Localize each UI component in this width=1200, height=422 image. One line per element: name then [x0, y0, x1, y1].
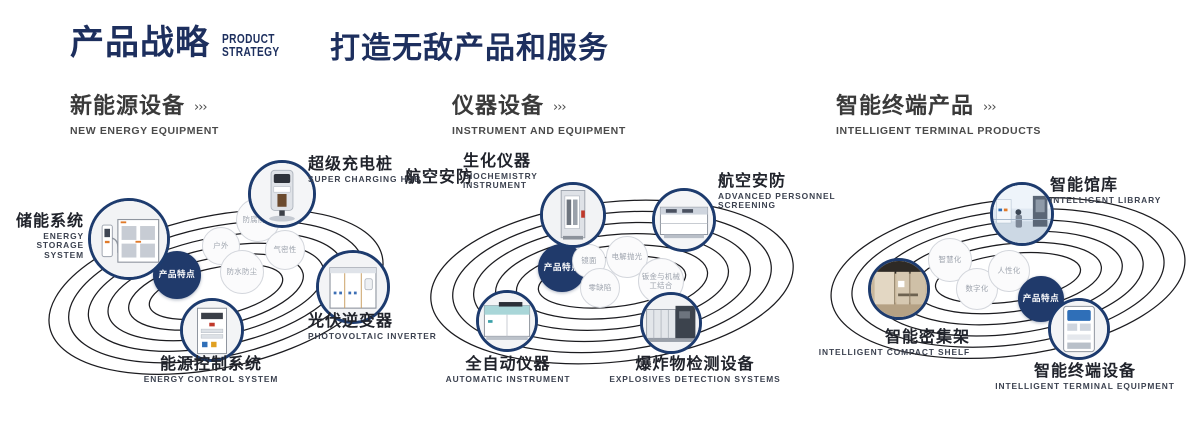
node-energy-storage-system[interactable]: [88, 198, 170, 280]
feature-bubble-label: 零缺陷: [588, 283, 611, 292]
node-intelligent-terminal-equipment[interactable]: [1048, 298, 1110, 360]
node-explosives-detection[interactable]: [640, 292, 702, 354]
feature-bubble-3: 零缺陷: [580, 268, 620, 308]
page-title-en-line2: STRATEGY: [222, 45, 280, 58]
page-title-en: PRODUCT STRATEGY: [222, 32, 280, 59]
section-title-cn: 新能源设备: [70, 96, 185, 118]
section-header-instrument: 仪器设备 ››› INSTRUMENT AND EQUIPMENT: [452, 96, 626, 137]
explosives-detection-photo: [643, 295, 699, 351]
page-title-cn: 产品战略: [70, 26, 210, 60]
feature-bubble-label: 人性化: [997, 266, 1020, 275]
feature-bubble-label: 数字化: [965, 284, 988, 293]
page-title-en-line1: PRODUCT: [222, 32, 280, 45]
chevrons-right-icon: ›››: [553, 100, 566, 115]
caption-cn: 智能终端设备: [970, 362, 1200, 380]
node-super-charging-hub[interactable]: [248, 160, 316, 228]
feature-bubble-label: 智慧化: [938, 255, 961, 264]
screening-machine-photo: [655, 191, 713, 249]
caption-cn: 智能馆库: [1050, 176, 1190, 194]
section-header-new-energy: 新能源设备 ››› NEW ENERGY EQUIPMENT: [70, 96, 219, 137]
terminal-equipment-photo: [1051, 301, 1107, 357]
caption-intelligent-library: 智能馆库 INTELLIGENT LIBRARY: [1050, 176, 1190, 205]
page-title: 产品战略 PRODUCT STRATEGY: [70, 26, 296, 60]
cluster-instrument: 产品特点 镜面 电解抛光 零缺陷 钣金与机械工结合 生: [400, 150, 820, 400]
caption-intelligent-compact-shelf: 智能密集架 INTELLIGENT COMPACT SHELF: [780, 328, 970, 357]
feature-bubble-label: 电解抛光: [612, 252, 643, 261]
node-advanced-personnel-screening[interactable]: [652, 188, 716, 252]
feature-bubble-label: 防水防尘: [227, 267, 258, 276]
caption-cn: 航空安防: [405, 168, 495, 186]
cluster-intelligent-terminal: 智慧化 数字化 人性化 产品特点: [800, 150, 1200, 400]
node-biochemistry-instrument[interactable]: [540, 182, 606, 248]
caption-intelligent-terminal-equipment: 智能终端设备 INTELLIGENT TERMINAL EQUIPMENT: [970, 362, 1200, 391]
caption-en: ENERGY CONTROL SYSTEM: [100, 375, 322, 384]
compact-shelf-photo: [871, 261, 927, 317]
section-title-en: NEW ENERGY EQUIPMENT: [70, 125, 219, 137]
cluster-new-energy: 产品特点 户外 防腐防锈 防水防尘 气密性: [20, 150, 420, 400]
biochemistry-photo: [543, 185, 603, 245]
intelligent-library-photo: [993, 185, 1051, 243]
caption-aviation-security-left: 航空安防: [405, 168, 495, 186]
feature-bubble-3: 防水防尘: [220, 250, 264, 294]
feature-bubble-4: 气密性: [265, 230, 305, 270]
node-intelligent-library[interactable]: [990, 182, 1054, 246]
caption-energy-control-system: 能源控制系统 ENERGY CONTROL SYSTEM: [100, 355, 322, 384]
product-strategy-infographic: 产品战略 PRODUCT STRATEGY 打造无敌产品和服务 新能源设备 ››…: [0, 0, 1200, 422]
caption-cn: 储能系统: [0, 212, 84, 230]
caption-energy-storage-system: 储能系统 ENERGY STORAGE SYSTEM: [0, 212, 84, 260]
node-automatic-instrument[interactable]: [476, 290, 538, 352]
section-title-en: INTELLIGENT TERMINAL PRODUCTS: [836, 125, 1041, 137]
caption-cn: 爆炸物检测设备: [570, 355, 820, 373]
caption-en: INTELLIGENT COMPACT SHELF: [780, 348, 970, 357]
caption-cn: 能源控制系统: [100, 355, 322, 373]
charging-hub-photo: [251, 163, 313, 225]
feature-bubble-label: 户外: [213, 241, 228, 250]
caption-en: ENERGY STORAGE SYSTEM: [0, 232, 84, 260]
caption-cn: 智能密集架: [780, 328, 970, 346]
section-header-intelligent-terminal: 智能终端产品 ››› INTELLIGENT TERMINAL PRODUCTS: [836, 96, 1041, 137]
feature-bubble-label: 镜面: [581, 256, 596, 265]
caption-en: INTELLIGENT LIBRARY: [1050, 196, 1190, 205]
section-title-cn: 仪器设备: [452, 96, 544, 118]
energy-storage-photo: [91, 201, 167, 277]
automatic-instrument-photo: [479, 293, 535, 349]
chevrons-right-icon: ›››: [983, 100, 996, 115]
caption-explosives-detection: 爆炸物检测设备 EXPLOSIVES DETECTION SYSTEMS: [570, 355, 820, 384]
node-intelligent-compact-shelf[interactable]: [868, 258, 930, 320]
section-title-cn: 智能终端产品: [836, 96, 974, 118]
chevrons-right-icon: ›››: [194, 100, 207, 115]
section-title-en: INSTRUMENT AND EQUIPMENT: [452, 125, 626, 137]
node-energy-control-system[interactable]: [180, 298, 244, 362]
caption-en: INTELLIGENT TERMINAL EQUIPMENT: [970, 382, 1200, 391]
feature-bubble-label: 钣金与机械工结合: [639, 272, 683, 290]
page-subtitle: 打造无敌产品和服务: [330, 34, 609, 64]
caption-en: EXPLOSIVES DETECTION SYSTEMS: [570, 375, 820, 384]
energy-control-photo: [183, 301, 241, 359]
feature-bubble-label: 气密性: [273, 245, 296, 254]
